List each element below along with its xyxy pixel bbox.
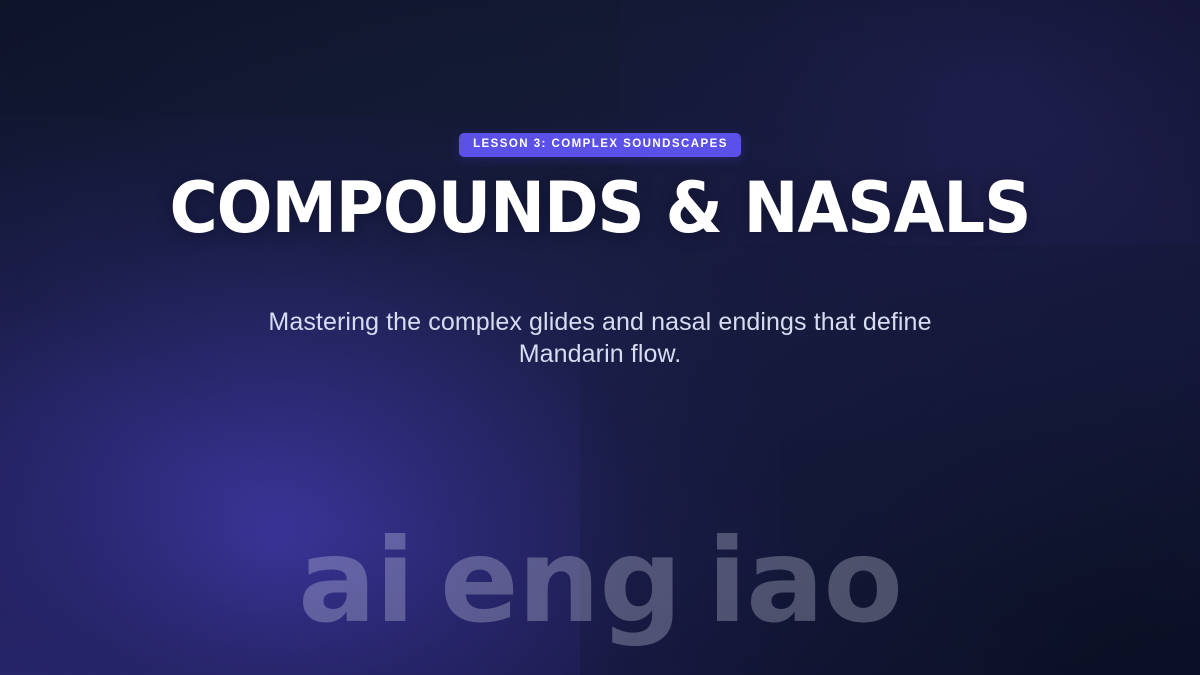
lesson-badge: LESSON 3: COMPLEX SOUNDSCAPES	[459, 133, 741, 157]
slide-content: LESSON 3: COMPLEX SOUNDSCAPES COMPOUNDS …	[0, 0, 1200, 510]
decorative-phonetics-row: aiengiao	[0, 524, 1200, 640]
decorative-phonetic-2: eng	[440, 514, 681, 649]
slide-subtitle: Mastering the complex glides and nasal e…	[250, 306, 950, 370]
slide-title: COMPOUNDS & NASALS	[170, 173, 1031, 244]
lesson-title-slide: aiengiao LESSON 3: COMPLEX SOUNDSCAPES C…	[0, 0, 1200, 675]
decorative-phonetic-3: iao	[707, 514, 902, 649]
decorative-phonetic-1: ai	[298, 514, 414, 649]
